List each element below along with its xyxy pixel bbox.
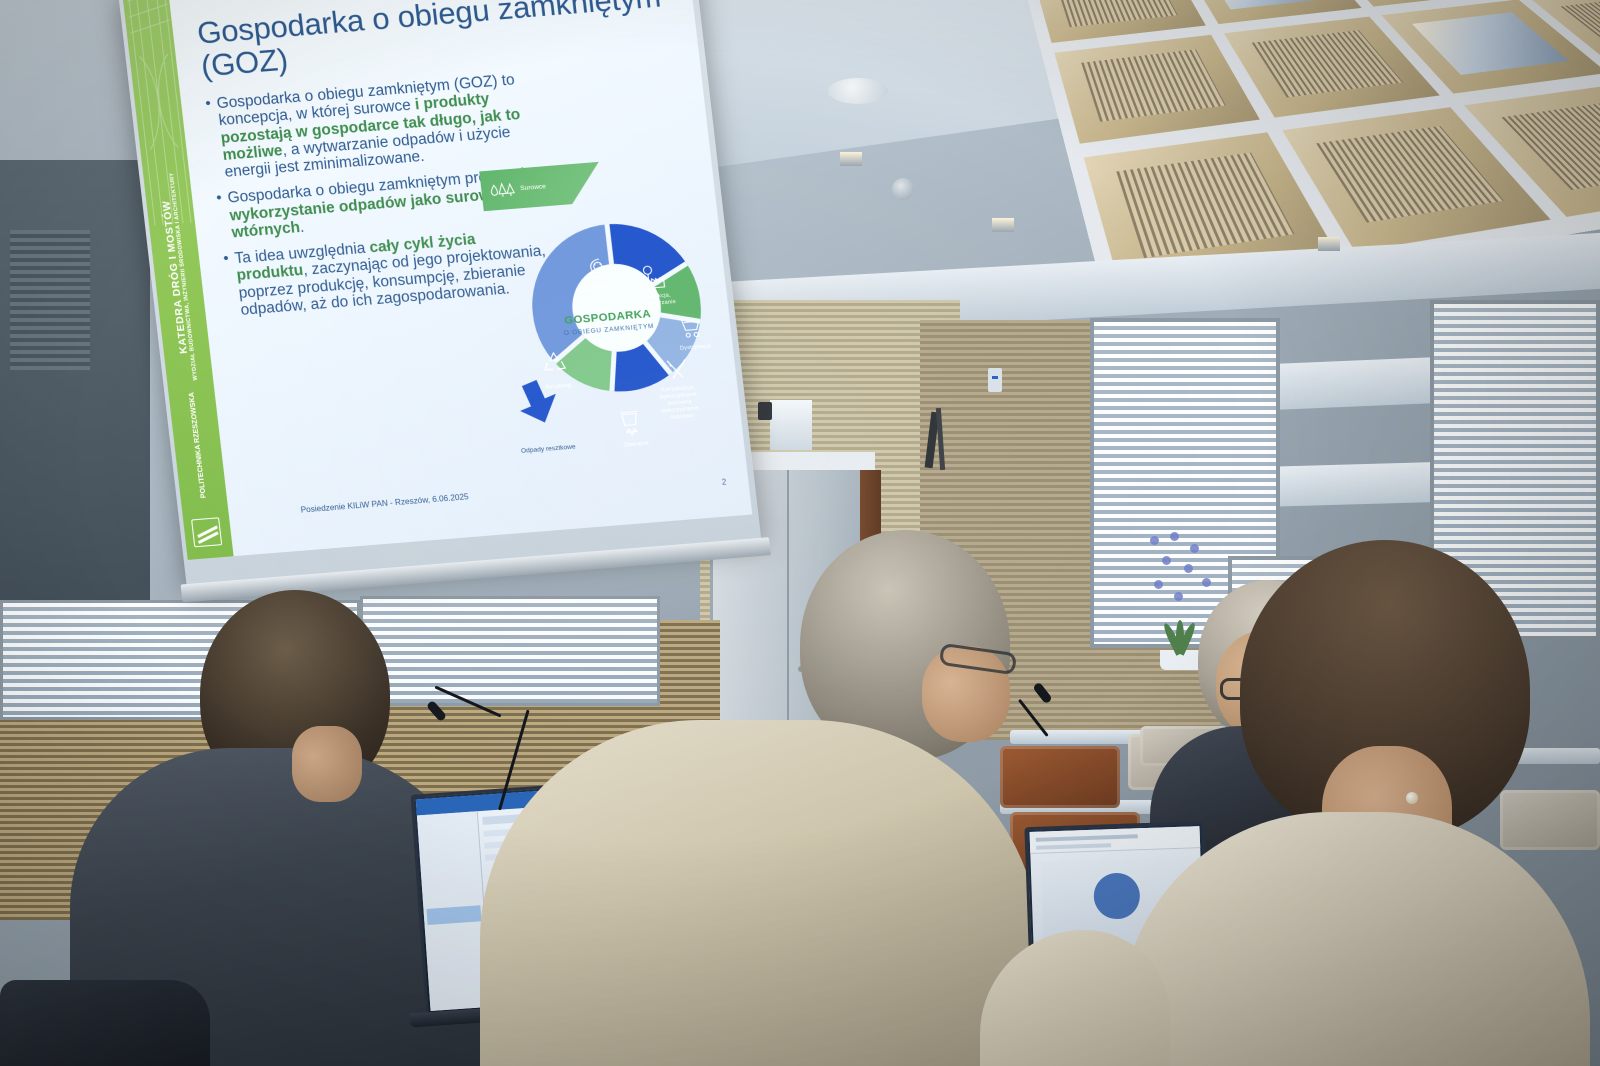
screenshot-root: KATEDRA DRÓG I MOSTÓW WYDZIAŁ BUDOWNICTW… — [0, 0, 1600, 1066]
attendee-foreground-partial — [980, 930, 1170, 1066]
university-name: POLITECHNIKA RZESZOWSKA — [187, 392, 208, 499]
presentation-slide: KATEDRA DRÓG I MOSTÓW WYDZIAŁ BUDOWNICTW… — [123, 0, 753, 560]
slide-content: Gospodarka o obiegu zamkniętym (GOZ) • G… — [169, 0, 753, 556]
bullet-dot-icon: • — [223, 251, 236, 320]
slide-title: Gospodarka o obiegu zamkniętym (GOZ) — [195, 0, 679, 83]
slide-footer: Posiedzenie KILiW PAN - Rzeszów, 6.06.20… — [300, 492, 469, 514]
downlight-icon — [840, 152, 862, 166]
slide-page-number: 2 — [721, 477, 726, 486]
left-dark-wall — [0, 160, 150, 640]
ceiling-speaker-icon — [828, 78, 888, 104]
bin-recycle-icon — [615, 409, 644, 439]
smoke-detector-icon — [892, 178, 914, 200]
downlight-icon — [992, 218, 1014, 232]
bullet-dot-icon: • — [216, 191, 227, 243]
university-crest-icon — [191, 517, 222, 547]
shopping-cart-icon — [677, 316, 703, 340]
ceiling-coffer — [1054, 35, 1259, 145]
factory-tree-icon — [639, 263, 668, 291]
head-idea-icon — [583, 255, 610, 281]
wall-vent — [10, 230, 90, 370]
downlight-icon — [1318, 237, 1340, 251]
ceiling-coffer — [1033, 0, 1205, 43]
fork-knife-icon — [664, 357, 691, 383]
earring-icon — [1406, 792, 1418, 804]
circular-economy-diagram: Surowce — [474, 147, 741, 493]
recycle-icon — [540, 349, 569, 377]
chair-back-foreground[interactable] — [0, 980, 210, 1066]
wall-projector-box — [770, 400, 812, 450]
attendee-center-light-shirt — [470, 520, 1050, 1066]
bullet-plain: . — [299, 219, 305, 236]
segment-label-konsumpcja: Konsumpcja, wykorzystanie, ponowne wykor… — [651, 384, 709, 423]
access-sensor-icon[interactable] — [988, 368, 1002, 392]
down-arrow-icon — [513, 378, 562, 427]
university-logo-text: POLITECHNIKA RZESZOWSKA — [174, 391, 222, 500]
